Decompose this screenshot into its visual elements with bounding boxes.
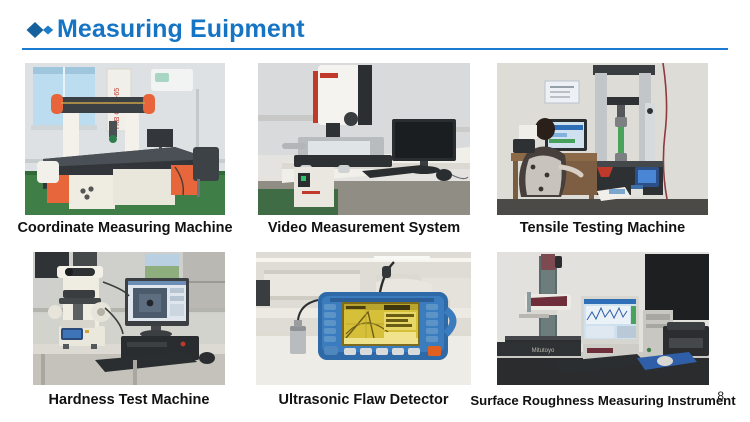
equipment-caption: Surface Roughness Measuring Instrument bbox=[470, 392, 735, 409]
photo-coordinate-measuring-machine: TKB CMM-65 bbox=[25, 63, 225, 215]
slide-header: Measuring Euipment bbox=[0, 0, 750, 52]
equipment-caption: Video Measurement System bbox=[268, 220, 460, 237]
photo-video-measurement-system bbox=[258, 63, 470, 215]
photo-surface-roughness-measuring-instrument: Mitutoyo bbox=[497, 252, 709, 385]
equipment-caption: Tensile Testing Machine bbox=[520, 220, 685, 237]
double-diamond-bullet-icon bbox=[26, 21, 54, 39]
equipment-caption: Coordinate Measuring Machine bbox=[17, 220, 232, 237]
page-number: 8 bbox=[717, 389, 724, 403]
svg-text:Mitutoyo: Mitutoyo bbox=[532, 348, 555, 354]
photo-hardness-test-machine bbox=[33, 252, 225, 385]
photo-ultrasonic-flaw-detector bbox=[256, 252, 471, 385]
photo-tensile-testing-machine bbox=[497, 63, 708, 215]
page-title: Measuring Euipment bbox=[57, 13, 305, 45]
equipment-caption: Ultrasonic Flaw Detector bbox=[278, 392, 448, 409]
title-underline-rule bbox=[22, 48, 728, 50]
equipment-caption: Hardness Test Machine bbox=[49, 392, 210, 409]
